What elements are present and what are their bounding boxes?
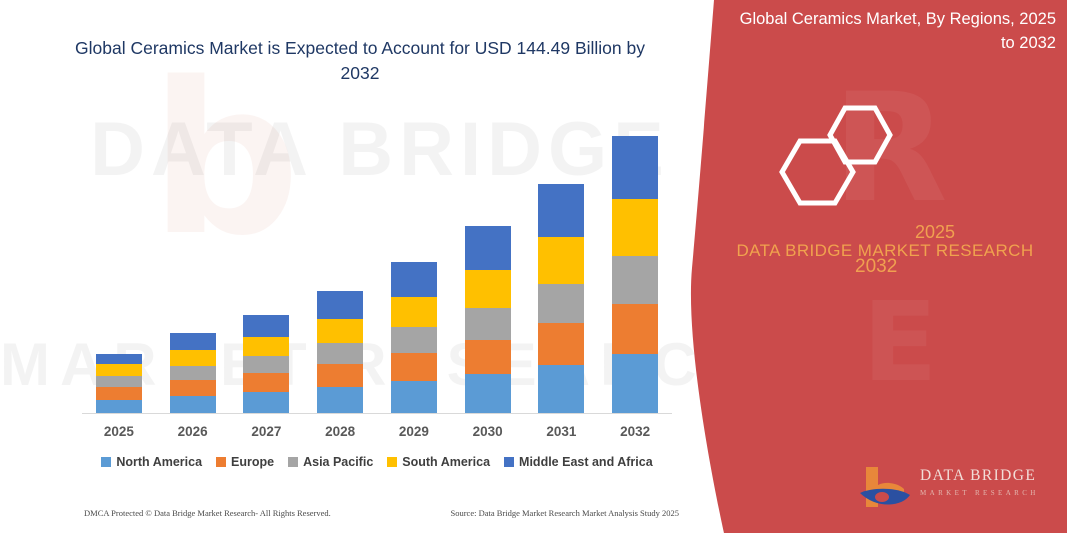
bar-segment bbox=[96, 376, 142, 387]
chart-baseline bbox=[82, 413, 672, 414]
bar-segment bbox=[391, 297, 437, 327]
brand-name: DATA BRIDGE MARKET RESEARCH bbox=[720, 238, 1050, 264]
legend-label: Asia Pacific bbox=[303, 455, 373, 469]
legend-swatch-icon bbox=[387, 457, 397, 467]
legend-label: North America bbox=[116, 455, 202, 469]
bar-segment bbox=[465, 308, 511, 340]
legend-item-2[interactable]: Asia Pacific bbox=[288, 455, 373, 469]
bar-segment bbox=[612, 304, 658, 354]
bar-segment bbox=[391, 381, 437, 414]
bar-segment bbox=[612, 136, 658, 199]
bar-segment bbox=[317, 319, 363, 343]
legend-item-0[interactable]: North America bbox=[101, 455, 202, 469]
infographic-canvas: b DATA BRIDGE MARKET RESEARCH Global Cer… bbox=[0, 0, 1067, 533]
bar-column-2031 bbox=[530, 184, 592, 414]
x-axis-label-2025: 2025 bbox=[88, 424, 150, 439]
legend-swatch-icon bbox=[101, 457, 111, 467]
panel-title: Global Ceramics Market, By Regions, 2025… bbox=[738, 8, 1056, 56]
bar-segment bbox=[465, 270, 511, 308]
x-axis-label-2029: 2029 bbox=[383, 424, 445, 439]
bar-column-2028 bbox=[309, 291, 371, 414]
footer: DMCA Protected © Data Bridge Market Rese… bbox=[84, 508, 679, 518]
bar-segment bbox=[465, 340, 511, 374]
footer-copyright: DMCA Protected © Data Bridge Market Rese… bbox=[84, 508, 331, 518]
x-axis-label-2031: 2031 bbox=[530, 424, 592, 439]
bar-segment bbox=[243, 392, 289, 414]
logo-mark-icon bbox=[858, 463, 918, 515]
bar-segment bbox=[243, 337, 289, 356]
bar-segment bbox=[243, 315, 289, 337]
bar-segment bbox=[317, 364, 363, 387]
bar-column-2025 bbox=[88, 354, 150, 414]
bar-segment bbox=[96, 400, 142, 414]
bar-group bbox=[82, 120, 672, 414]
bar-segment bbox=[170, 396, 216, 414]
bar-segment bbox=[391, 262, 437, 297]
legend-item-3[interactable]: South America bbox=[387, 455, 490, 469]
bar-column-2027 bbox=[235, 315, 297, 414]
bar-segment bbox=[170, 333, 216, 350]
logo-text-main: DATA BRIDGE bbox=[920, 467, 1039, 485]
footer-source: Source: Data Bridge Market Research Mark… bbox=[450, 508, 679, 518]
bar-segment bbox=[243, 373, 289, 392]
hexagon-shapes bbox=[690, 96, 1067, 216]
bar-segment bbox=[96, 364, 142, 376]
bar-segment bbox=[612, 256, 658, 304]
legend-label: South America bbox=[402, 455, 490, 469]
bar-segment bbox=[612, 199, 658, 256]
legend-swatch-icon bbox=[216, 457, 226, 467]
bar-segment bbox=[538, 323, 584, 365]
bar-segment bbox=[96, 354, 142, 364]
bar-segment bbox=[538, 237, 584, 284]
bar-segment bbox=[391, 327, 437, 353]
bar-segment bbox=[538, 284, 584, 323]
title-panel: R E Global Ceramics Market, By Regions, … bbox=[690, 0, 1067, 533]
bar-segment bbox=[391, 353, 437, 381]
x-axis-label-2026: 2026 bbox=[162, 424, 224, 439]
hexagon-group: 2025 2032 bbox=[690, 96, 1067, 216]
hexagon-2032-outline bbox=[782, 141, 853, 203]
bar-segment bbox=[465, 226, 511, 270]
bar-segment bbox=[465, 374, 511, 414]
legend-item-4[interactable]: Middle East and Africa bbox=[504, 455, 653, 469]
bar-segment bbox=[317, 343, 363, 364]
chart-title: Global Ceramics Market is Expected to Ac… bbox=[60, 36, 660, 87]
bar-segment bbox=[317, 291, 363, 319]
legend-label: Europe bbox=[231, 455, 274, 469]
x-axis-labels: 20252026202720282029203020312032 bbox=[82, 424, 672, 439]
x-axis-label-2030: 2030 bbox=[457, 424, 519, 439]
bar-segment bbox=[170, 366, 216, 380]
bar-column-2029 bbox=[383, 262, 445, 414]
x-axis-label-2027: 2027 bbox=[235, 424, 297, 439]
bar-segment bbox=[243, 356, 289, 373]
bar-segment bbox=[317, 387, 363, 414]
legend-swatch-icon bbox=[288, 457, 298, 467]
hexagon-2025-outline bbox=[830, 108, 890, 162]
bar-segment bbox=[170, 380, 216, 396]
bar-segment bbox=[538, 184, 584, 237]
logo-text-sub: MARKET RESEARCH bbox=[920, 489, 1039, 497]
legend-label: Middle East and Africa bbox=[519, 455, 653, 469]
bar-column-2030 bbox=[457, 226, 519, 414]
bar-segment bbox=[612, 354, 658, 414]
legend-swatch-icon bbox=[504, 457, 514, 467]
bar-segment bbox=[96, 387, 142, 400]
bar-segment bbox=[170, 350, 216, 366]
company-logo: DATA BRIDGE MARKET RESEARCH bbox=[858, 463, 1063, 515]
bar-column-2032 bbox=[604, 136, 666, 414]
x-axis-label-2032: 2032 bbox=[604, 424, 666, 439]
bar-column-2026 bbox=[162, 333, 224, 414]
stacked-bar-chart bbox=[82, 120, 672, 414]
legend-item-1[interactable]: Europe bbox=[216, 455, 274, 469]
chart-legend: North AmericaEuropeAsia PacificSouth Ame… bbox=[82, 455, 672, 469]
chart-panel: Global Ceramics Market is Expected to Ac… bbox=[0, 0, 712, 533]
x-axis-label-2028: 2028 bbox=[309, 424, 371, 439]
bar-segment bbox=[538, 365, 584, 414]
